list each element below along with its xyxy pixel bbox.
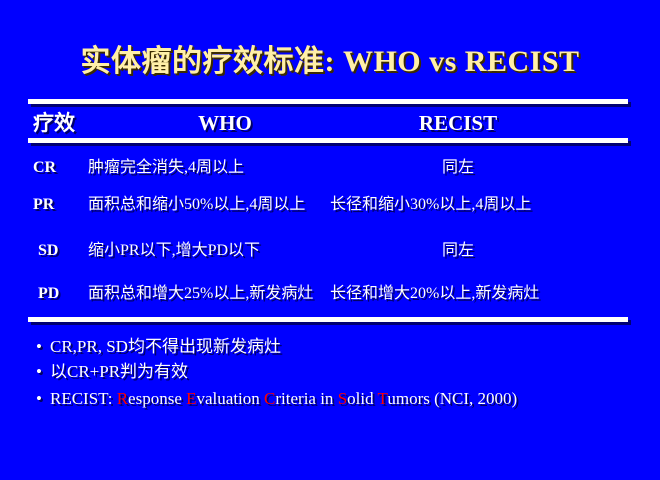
cell-recist-pr: 长径和缩小30%以上,4周以上 [330, 192, 620, 218]
table-row: PR 面积总和缩小50%以上,4周以上 长径和缩小30%以上,4周以上 [0, 192, 660, 218]
recist-prefix: RECIST: [50, 389, 117, 408]
column-header-who: WHO [145, 108, 305, 138]
recist-word-solid: olid [347, 389, 377, 408]
row-label-pd: PD [38, 281, 90, 307]
recist-word-evaluation: valuation [197, 389, 265, 408]
cell-recist-cr: 同左 [378, 155, 538, 181]
notes-list: CR,PR, SD均不得出现新发病灶 以CR+PR判为有效 RECIST: Re… [36, 334, 636, 411]
row-label-sd: SD [38, 238, 90, 264]
recist-initial-t: T [378, 389, 388, 408]
slide-canvas: 实体瘤的疗效标准: WHO vs RECIST 疗效 WHO RECIST CR… [0, 0, 660, 480]
row-label-cr: CR [33, 155, 85, 181]
recist-initial-c: C [264, 389, 275, 408]
list-item: 以CR+PR判为有效 [36, 359, 636, 384]
table-row: PD 面积总和增大25%以上,新发病灶 长径和增大20%以上,新发病灶 [0, 281, 660, 307]
row-label-pr: PR [33, 192, 85, 218]
column-header-effect: 疗效 [33, 108, 75, 138]
recist-word-criteria-in: riteria in [275, 389, 337, 408]
recist-initial-e: E [186, 389, 196, 408]
column-header-recist: RECIST [378, 108, 538, 138]
table-row: CR 肿瘤完全消失,4周以上 同左 [0, 155, 660, 181]
list-item: CR,PR, SD均不得出现新发病灶 [36, 334, 636, 359]
cell-recist-pd: 长径和增大20%以上,新发病灶 [330, 281, 620, 307]
table-header-row: 疗效 WHO RECIST [0, 108, 660, 138]
list-item: RECIST: Response Evaluation Criteria in … [36, 386, 636, 411]
cell-who-sd: 缩小PR以下,增大PD以下 [88, 238, 260, 264]
recist-initial-s: S [338, 389, 347, 408]
cell-who-pr: 面积总和缩小50%以上,4周以上 [88, 192, 305, 218]
cell-recist-sd: 同左 [378, 238, 538, 264]
cell-who-cr: 肿瘤完全消失,4周以上 [88, 155, 244, 181]
recist-word-response: esponse [128, 389, 186, 408]
recist-word-tumors-suffix: umors (NCI, 2000) [387, 389, 517, 408]
recist-initial-r: R [117, 389, 128, 408]
cell-who-pd: 面积总和增大25%以上,新发病灶 [88, 281, 313, 307]
table-row: SD 缩小PR以下,增大PD以下 同左 [0, 238, 660, 264]
